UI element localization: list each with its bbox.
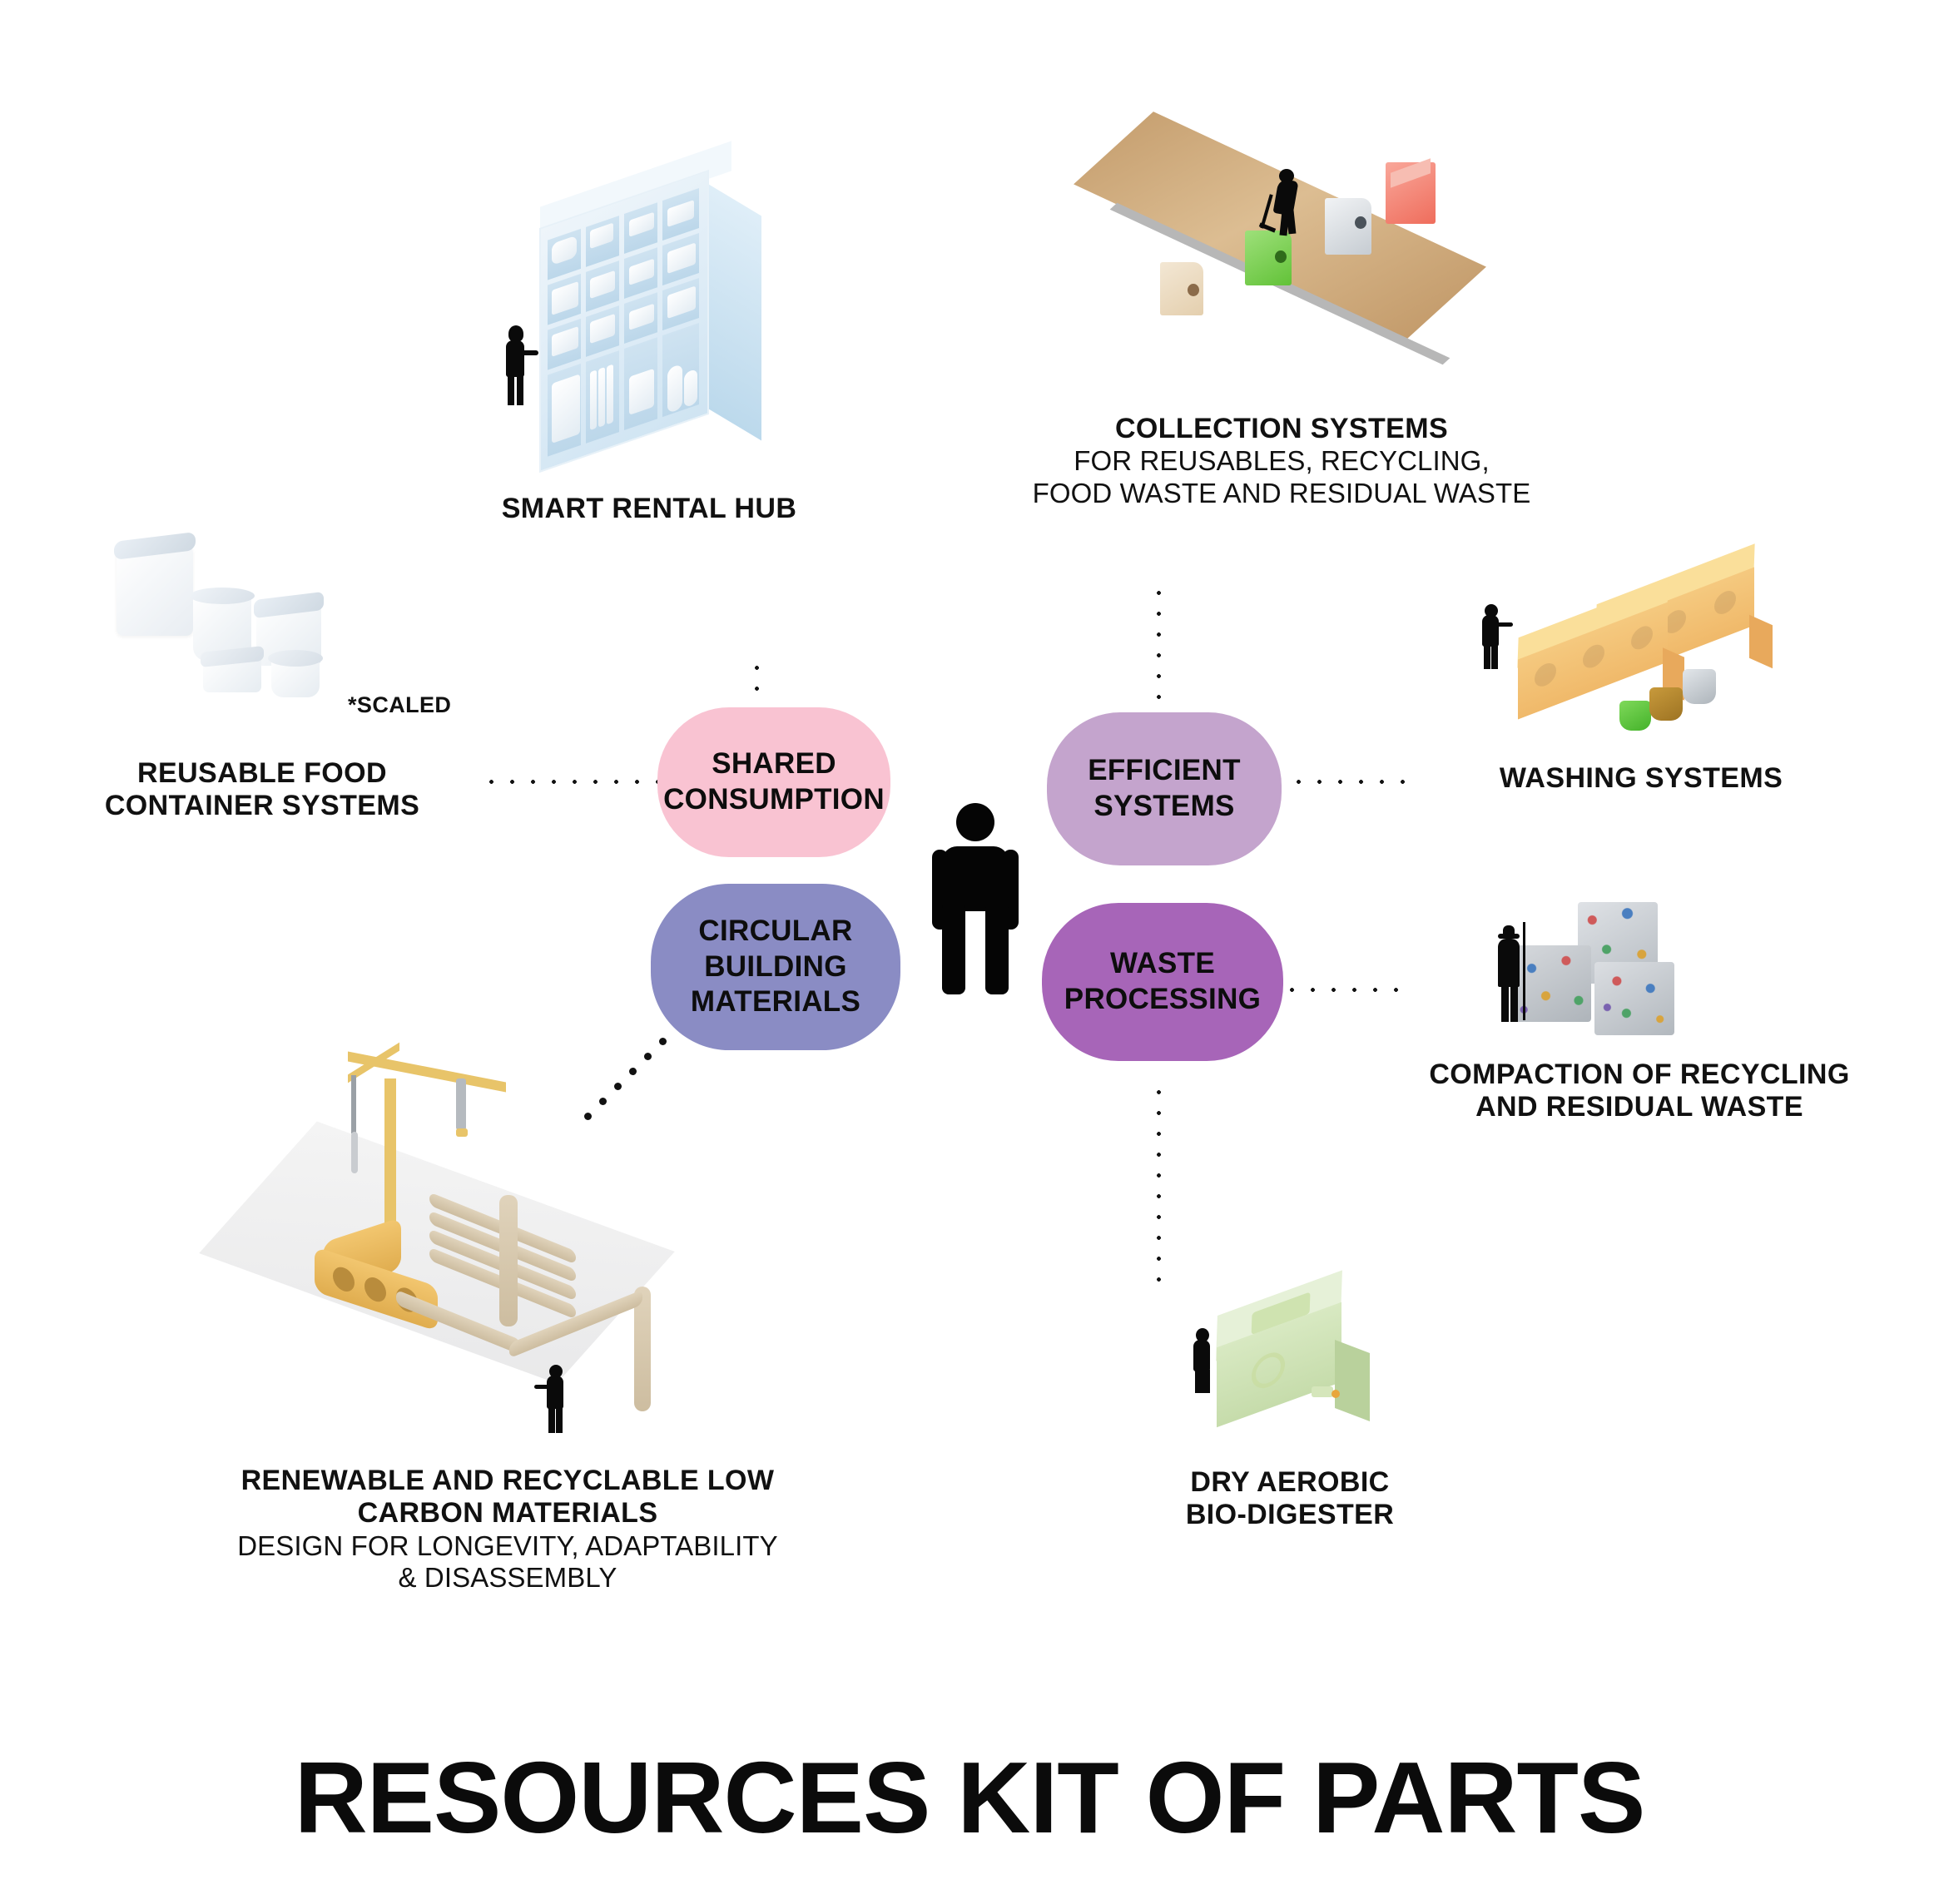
label-compaction: COMPACTION OF RECYCLING AND RESIDUAL WAS… (1365, 1059, 1914, 1124)
person-silhouette (1269, 169, 1304, 236)
compaction-illustration (1473, 899, 1806, 1065)
label-line: AND RESIDUAL WASTE (1365, 1091, 1914, 1123)
connector-collection-to-efficient (1155, 583, 1163, 732)
central-person-icon (930, 803, 1020, 1003)
connector-efficient-to-washing (1288, 778, 1420, 786)
bubble-label: WASTE PROCESSING (1064, 946, 1261, 1017)
bucket-green (1619, 701, 1651, 731)
bin-beige (1160, 262, 1203, 315)
label-line: WASHING SYSTEMS (1425, 762, 1857, 795)
person-silhouette (543, 1365, 569, 1433)
label-collection-systems: COLLECTION SYSTEMS FOR REUSABLES, RECYCL… (1007, 413, 1556, 509)
bio-digester-illustration (1190, 1290, 1406, 1440)
label-dry-aerobic-bio-digester: DRY AEROBIC BIO-DIGESTER (1090, 1466, 1490, 1532)
bale-right (1594, 962, 1674, 1035)
label-line: & DISASSEMBLY (191, 1562, 824, 1594)
bubble-waste-processing[interactable]: WASTE PROCESSING (1042, 903, 1283, 1061)
reusable-containers-illustration (117, 533, 358, 716)
person-torso (942, 846, 1009, 911)
label-renewable-materials: RENEWABLE AND RECYCLABLE LOW CARBON MATE… (191, 1465, 824, 1594)
bucket-brown (1649, 687, 1683, 721)
connector-containers-to-shared (481, 778, 657, 786)
bubble-label: CIRCULAR BUILDING MATERIALS (691, 914, 860, 1020)
person-silhouette (1495, 925, 1528, 1022)
diagram-canvas: *SCALED (0, 0, 1939, 1904)
label-line: DRY AEROBIC (1090, 1466, 1490, 1499)
container-bowl (271, 657, 320, 697)
renewable-materials-illustration (250, 1040, 757, 1423)
person-silhouette (502, 325, 530, 405)
digester-spout (1312, 1386, 1333, 1397)
bubble-efficient-systems[interactable]: EFFICIENT SYSTEMS (1047, 712, 1282, 865)
label-washing-systems: WASHING SYSTEMS (1425, 762, 1857, 795)
washing-systems-illustration (1465, 574, 1798, 749)
label-line: FOOD WASTE AND RESIDUAL WASTE (1007, 478, 1556, 509)
container-tall (117, 544, 193, 636)
digester-valve (1332, 1390, 1340, 1398)
bubble-shared-consumption[interactable]: SHARED CONSUMPTION (657, 707, 890, 857)
label-line: CARBON MATERIALS (191, 1497, 824, 1530)
connector-circular-to-construction (566, 1036, 674, 1136)
label-line: SMART RENTAL HUB (433, 493, 865, 525)
bin-grey (1325, 198, 1371, 255)
connector-waste-to-digester (1155, 1082, 1163, 1290)
collection-systems-illustration (1098, 146, 1490, 395)
page-title: RESOURCES KIT OF PARTS (0, 1739, 1939, 1856)
connector-waste-to-compaction (1282, 986, 1415, 994)
label-line: FOR REUSABLES, RECYCLING, (1007, 445, 1556, 477)
bin-red (1386, 162, 1436, 224)
bucket-grey (1683, 669, 1716, 704)
container-small (203, 656, 261, 692)
label-line: COMPACTION OF RECYCLING (1365, 1059, 1914, 1091)
person-leg-right (985, 905, 1009, 994)
person-leg-left (942, 905, 965, 994)
label-line: REUSABLE FOOD (50, 757, 474, 790)
label-smart-rental-hub: SMART RENTAL HUB (433, 493, 865, 525)
label-reusable-food-container-systems: REUSABLE FOOD CONTAINER SYSTEMS (50, 757, 474, 823)
bubble-label: SHARED CONSUMPTION (663, 746, 885, 817)
label-line: DESIGN FOR LONGEVITY, ADAPTABILITY (191, 1530, 824, 1562)
label-line: COLLECTION SYSTEMS (1007, 413, 1556, 445)
person-silhouette (1478, 604, 1508, 669)
label-line: RENEWABLE AND RECYCLABLE LOW (191, 1465, 824, 1497)
scaled-note: *SCALED (348, 692, 451, 718)
person-head (956, 803, 994, 841)
person-silhouette (1190, 1328, 1215, 1393)
label-line: CONTAINER SYSTEMS (50, 790, 474, 822)
bubble-label: EFFICIENT SYSTEMS (1088, 753, 1241, 824)
smart-rental-hub-illustration (487, 162, 799, 462)
digester-side (1335, 1340, 1370, 1421)
column-center (499, 1195, 518, 1326)
bubble-circular-building-materials[interactable]: CIRCULAR BUILDING MATERIALS (651, 884, 900, 1050)
label-line: BIO-DIGESTER (1090, 1499, 1490, 1531)
bin-green (1245, 231, 1292, 285)
